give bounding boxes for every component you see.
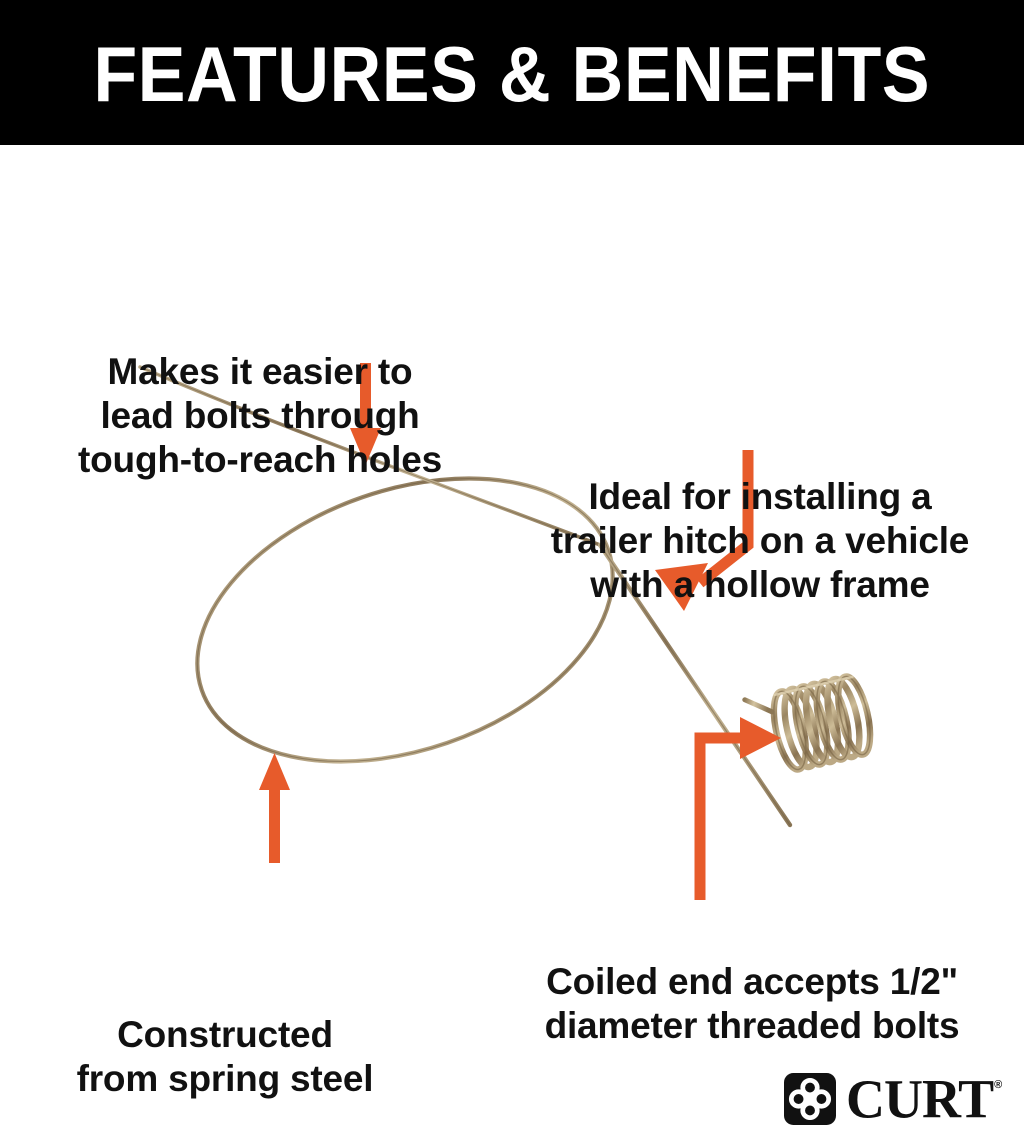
callout-line: Coiled end accepts 1/2" — [512, 960, 992, 1004]
curt-wordmark: CURT — [846, 1071, 993, 1126]
callout-line: tough-to-reach holes — [60, 438, 460, 482]
content-stage: Makes it easier to lead bolts through to… — [0, 145, 1024, 1024]
callout-line: diameter threaded bolts — [512, 1004, 992, 1048]
arrow-bent-right-icon — [700, 738, 743, 900]
callout-line: Makes it easier to — [60, 350, 460, 394]
callout-line: trailer hitch on a vehicle — [520, 519, 1000, 563]
coil-entry-tail — [745, 694, 772, 717]
callout-makes-it-easier: Makes it easier to lead bolts through to… — [60, 350, 460, 482]
header-bar: FEATURES & BENEFITS — [0, 0, 1024, 145]
infographic-page: FEATURES & BENEFITS — [0, 0, 1024, 1024]
callout-line: Ideal for installing a — [520, 475, 1000, 519]
curt-logo: CURT ® — [784, 1070, 980, 1128]
registered-trademark-icon: ® — [994, 1079, 1002, 1091]
callout-line: lead bolts through — [60, 394, 460, 438]
callout-line: from spring steel — [25, 1057, 425, 1101]
callout-line: Constructed — [25, 1013, 425, 1057]
arrow-up-icon — [259, 753, 290, 863]
curt-wordmark-wrap: CURT ® — [846, 1073, 1002, 1125]
page-title: FEATURES & BENEFITS — [94, 35, 931, 113]
callout-constructed-from-spring-steel: Constructed from spring steel — [25, 1013, 425, 1101]
coiled-end — [745, 674, 877, 778]
curt-clover-emblem-icon — [784, 1073, 836, 1125]
callout-line: with a hollow frame — [520, 563, 1000, 607]
callout-ideal-for-installing: Ideal for installing a trailer hitch on … — [520, 475, 1000, 607]
callout-coiled-end: Coiled end accepts 1/2" diameter threade… — [512, 960, 992, 1048]
